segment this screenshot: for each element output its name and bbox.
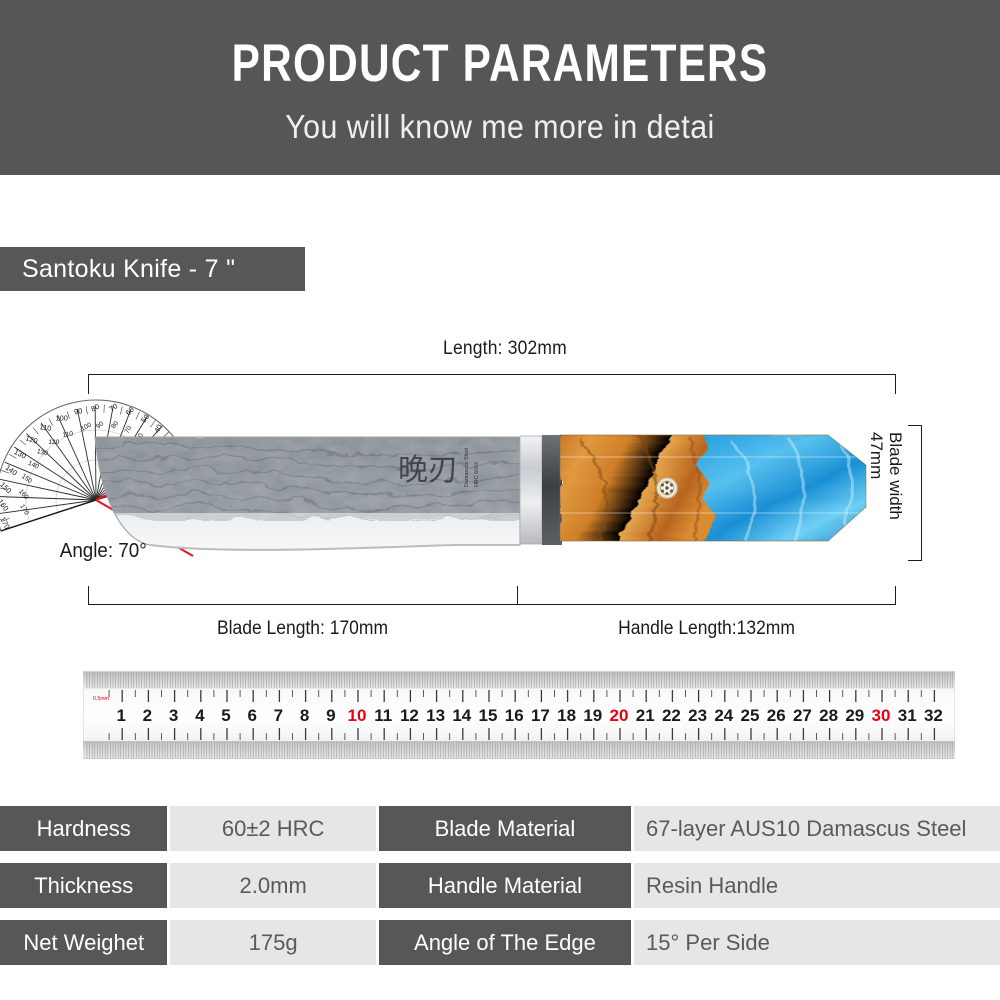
- ruler-number: 9: [326, 706, 335, 725]
- specification-table: Hardness 60±2 HRC Blade Material 67-laye…: [0, 806, 1000, 952]
- ruler-number: 1: [116, 706, 125, 725]
- ruler-number: 21: [636, 706, 655, 725]
- handle-mosaic-pin: [657, 478, 678, 499]
- ruler-number: 14: [452, 706, 471, 725]
- ruler-number: 22: [662, 706, 681, 725]
- ruler-number: 24: [714, 706, 733, 725]
- svg-text:晚刃: 晚刃: [398, 453, 458, 488]
- ruler-number: 16: [505, 706, 524, 725]
- ruler-number: 27: [793, 706, 812, 725]
- handle-length-label: Handle Length:132mm: [532, 618, 881, 640]
- ruler-number: 30: [872, 706, 891, 725]
- blade-stamp-line1: Damascus Steel: [464, 448, 470, 487]
- ruler-number: 2: [143, 706, 152, 725]
- ruler-number: 28: [819, 706, 838, 725]
- ruler-number: 17: [531, 706, 550, 725]
- ruler-number: 15: [479, 706, 498, 725]
- page-subtitle: You will know me more in detai: [40, 105, 960, 149]
- spec-value-edge-angle: 15° Per Side: [634, 920, 1000, 965]
- spec-value-hardness: 60±2 HRC: [170, 806, 375, 851]
- ruler-number: 4: [195, 706, 205, 725]
- spec-value-blade-material: 67-layer AUS10 Damascus Steel: [634, 806, 1000, 851]
- spec-key-net-weight: Net Weighet: [0, 920, 167, 965]
- spec-key-edge-angle: Angle of The Edge: [379, 920, 631, 965]
- ruler-number: 19: [583, 706, 602, 725]
- ruler-number: 6: [247, 706, 256, 725]
- ruler-number: 29: [845, 706, 864, 725]
- blade-width-bracket: [908, 425, 922, 561]
- ruler-number: 8: [300, 706, 309, 725]
- blade-length-label: Blade Length: 170mm: [105, 618, 500, 640]
- product-name-label: Santoku Knife - 7 ": [22, 255, 235, 284]
- angle-label: Angle: 70°: [60, 540, 147, 563]
- knife-illustration: 晚刃 Damascus Steel HRC 60±2: [0, 395, 1000, 595]
- ruler-number: 20: [610, 706, 629, 725]
- product-parameters-page: PRODUCT PARAMETERS You will know me more…: [0, 0, 1000, 1000]
- page-header: PRODUCT PARAMETERS You will know me more…: [0, 0, 1000, 175]
- ruler-number: 11: [374, 706, 392, 725]
- total-length-label: Length: 302mm: [40, 338, 969, 360]
- blade-stamp-line2: HRC 60±2: [474, 462, 480, 487]
- ruler-number: 13: [426, 706, 445, 725]
- ruler-number: 18: [557, 706, 576, 725]
- blade-engraving: 晚刃 Damascus Steel HRC 60±2: [398, 448, 480, 488]
- table-row: Thickness 2.0mm Handle Material Resin Ha…: [0, 863, 1000, 908]
- spec-key-handle-material: Handle Material: [379, 863, 631, 908]
- spec-value-net-weight: 175g: [170, 920, 375, 965]
- ruler-number: 5: [221, 706, 230, 725]
- ruler-number: 25: [741, 706, 760, 725]
- segment-length-bracket: [88, 586, 896, 605]
- ruler-number: 23: [688, 706, 707, 725]
- ruler-number: 12: [400, 706, 419, 725]
- table-row: Hardness 60±2 HRC Blade Material 67-laye…: [0, 806, 1000, 851]
- ruler-number: 7: [274, 706, 283, 725]
- spec-value-handle-material: Resin Handle: [634, 863, 1000, 908]
- ruler-number: 3: [169, 706, 178, 725]
- ruler-origin-label: 0.5mm: [93, 696, 109, 702]
- spec-key-blade-material: Blade Material: [379, 806, 631, 851]
- ruler-number: 26: [767, 706, 786, 725]
- spec-key-thickness: Thickness: [0, 863, 167, 908]
- knife-handle: [560, 433, 880, 545]
- product-name-banner: Santoku Knife - 7 ": [0, 247, 305, 291]
- blade-width-label: Blade width 47mm: [867, 432, 905, 558]
- spec-value-thickness: 2.0mm: [170, 863, 375, 908]
- page-title: PRODUCT PARAMETERS: [100, 34, 900, 94]
- ruler-number: 32: [924, 706, 943, 725]
- table-row: Net Weighet 175g Angle of The Edge 15° P…: [0, 920, 1000, 965]
- ruler-number: 10: [348, 706, 367, 725]
- spec-key-hardness: Hardness: [0, 806, 167, 851]
- ruler-number: 31: [898, 706, 917, 725]
- blade-handle-divider: [517, 586, 518, 605]
- knife-bolster: [520, 435, 562, 545]
- measuring-ruler: 1234567891011121314151617181920212223242…: [83, 671, 955, 759]
